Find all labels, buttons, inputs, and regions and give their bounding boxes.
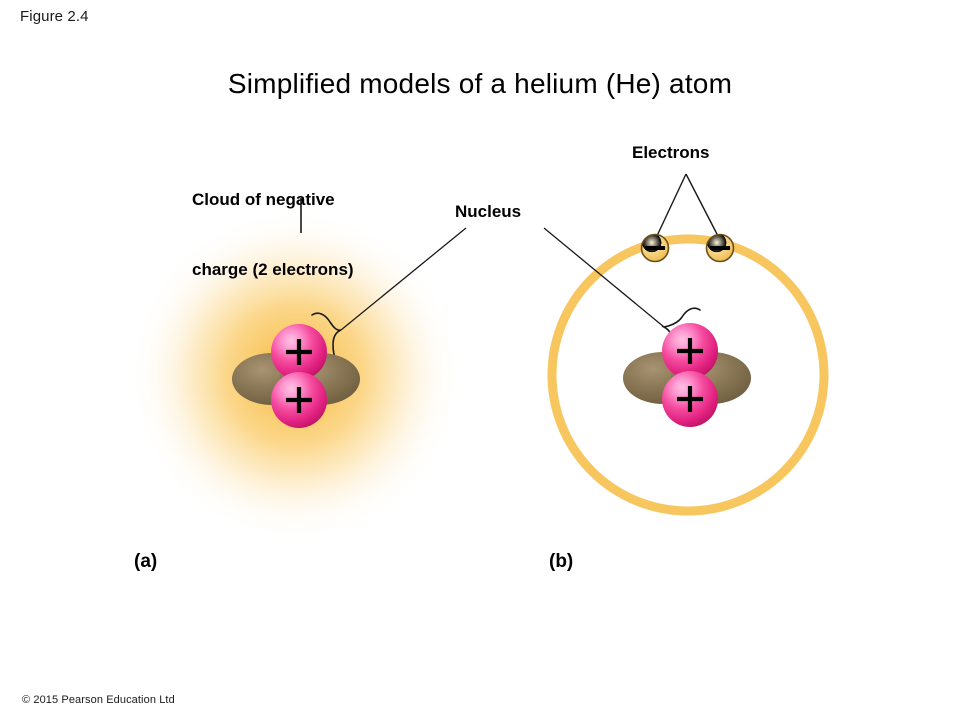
electron — [642, 235, 669, 262]
panel-label-b: (b) — [549, 551, 573, 573]
callout-nucleus: Nucleus — [455, 200, 521, 223]
copyright-notice: © 2015 Pearson Education Ltd — [22, 694, 175, 706]
callout-electrons: Electrons — [632, 141, 709, 164]
slide-canvas: Figure 2.4 Simplified models of a helium… — [0, 0, 960, 720]
electron-leader-line-left — [656, 174, 686, 238]
nucleus-b — [623, 323, 751, 427]
callout-cloud-line-2: charge (2 electrons) — [192, 258, 354, 281]
electron-leader-line-right — [686, 174, 719, 238]
panel-label-a: (a) — [134, 551, 157, 573]
panel-b-artwork — [544, 174, 824, 511]
callout-cloud-line-1: Cloud of negative — [192, 188, 354, 211]
callout-cloud-of-negative-charge: Cloud of negative charge (2 electrons) — [192, 141, 354, 329]
electron — [707, 235, 734, 262]
helium-atom-diagram — [0, 0, 960, 720]
